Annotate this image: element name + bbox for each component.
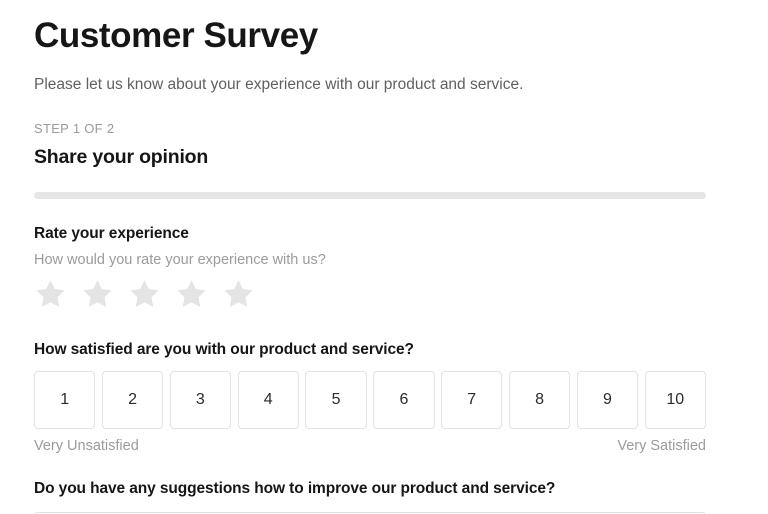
scale-option-10[interactable]: 10 — [645, 371, 706, 429]
scale-option-4[interactable]: 4 — [238, 371, 299, 429]
rating-label: Rate your experience — [34, 225, 706, 243]
star-icon[interactable] — [175, 278, 208, 311]
step-indicator: STEP 1 OF 2 — [34, 95, 706, 136]
step-title: Share your opinion — [34, 136, 706, 169]
scale-option-5[interactable]: 5 — [305, 371, 366, 429]
survey-page: Customer Survey Please let us know about… — [0, 0, 768, 514]
star-icon[interactable] — [81, 278, 114, 311]
star-icon[interactable] — [128, 278, 161, 311]
star-icon[interactable] — [222, 278, 255, 311]
scale-endpoint-labels: Very Unsatisfied Very Satisfied — [34, 429, 706, 454]
satisfaction-label: How satisfied are you with our product a… — [34, 341, 706, 359]
scale-option-1[interactable]: 1 — [34, 371, 95, 429]
scale-high-label: Very Satisfied — [617, 438, 706, 454]
scale-option-8[interactable]: 8 — [509, 371, 570, 429]
rating-help-text: How would you rate your experience with … — [34, 243, 706, 268]
scale-option-7[interactable]: 7 — [441, 371, 502, 429]
scale-low-label: Very Unsatisfied — [34, 438, 139, 454]
star-icon[interactable] — [34, 278, 67, 311]
scale-option-3[interactable]: 3 — [170, 371, 231, 429]
satisfaction-scale-group[interactable]: 12345678910 — [34, 359, 706, 429]
suggestions-label: Do you have any suggestions how to impro… — [34, 480, 706, 498]
suggestions-field: Do you have any suggestions how to impro… — [34, 454, 706, 514]
scale-option-6[interactable]: 6 — [373, 371, 434, 429]
scale-option-9[interactable]: 9 — [577, 371, 638, 429]
scale-option-2[interactable]: 2 — [102, 371, 163, 429]
page-subtitle: Please let us know about your experience… — [34, 56, 706, 96]
star-rating-group[interactable] — [34, 268, 706, 311]
page-title: Customer Survey — [34, 0, 706, 56]
survey-container: Customer Survey Please let us know about… — [34, 0, 706, 514]
progress-bar — [34, 192, 706, 199]
satisfaction-field: How satisfied are you with our product a… — [34, 311, 706, 454]
rating-field: Rate your experience How would you rate … — [34, 199, 706, 311]
